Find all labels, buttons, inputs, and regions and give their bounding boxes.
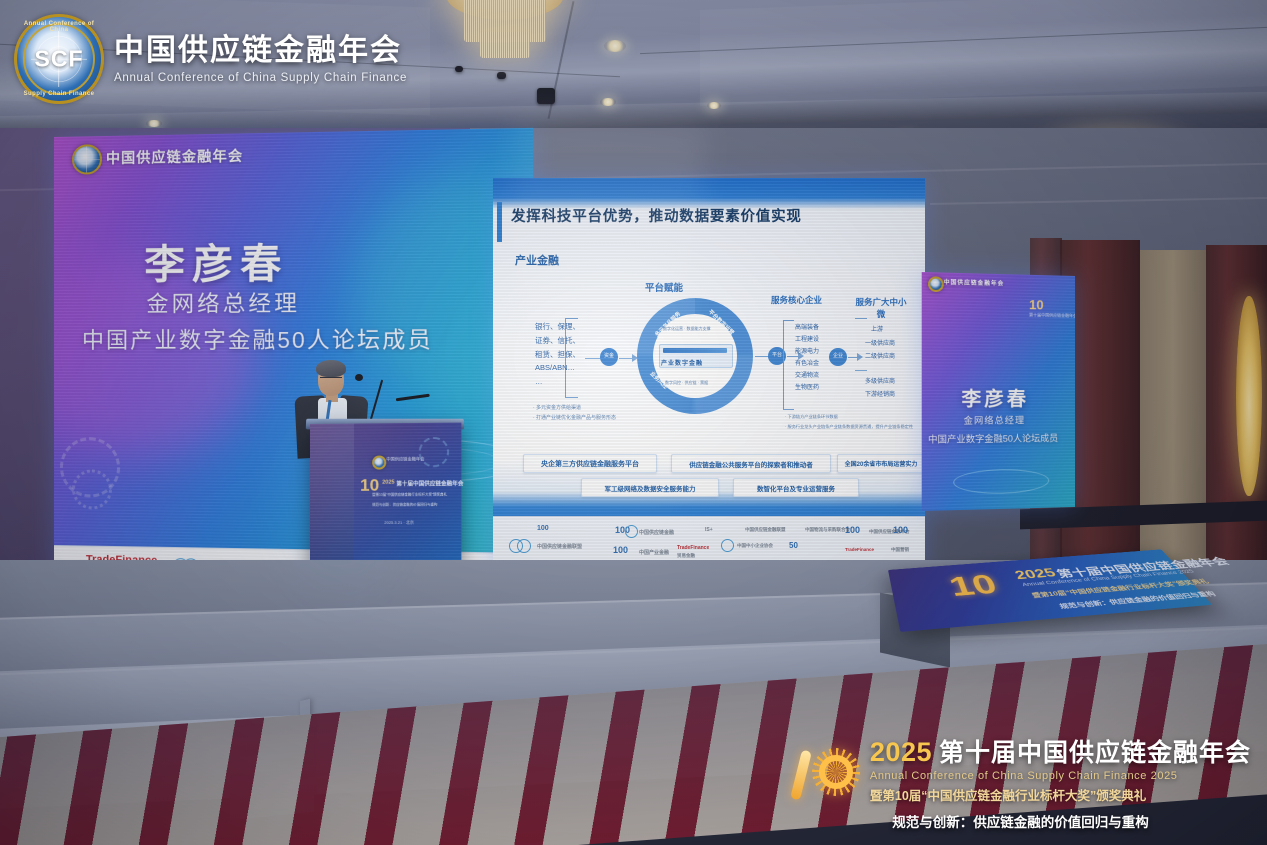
slide-arrow-icon bbox=[857, 353, 863, 361]
slide-micro-note: 数字化运营 · 数据能力支撑 bbox=[663, 326, 711, 332]
downlight-icon bbox=[600, 98, 616, 106]
downlight-icon bbox=[604, 40, 626, 52]
slide-core-item: 工程建设 bbox=[795, 334, 819, 343]
seal-arc-bottom: Supply Chain Finance bbox=[17, 91, 101, 97]
spotlight-fixture bbox=[455, 66, 463, 72]
watermark-bottom-right: 2025 第十届中国供应链金融年会 Annual Conference of C… bbox=[790, 733, 1251, 831]
podium-year: 2025 bbox=[382, 480, 394, 486]
watermark-title-cn: 中国供应链金融年会 bbox=[114, 34, 407, 69]
speaker-glasses-icon bbox=[320, 377, 342, 383]
slide-node-enterprise: 企业 bbox=[829, 348, 847, 366]
slide-left-item: 租赁、担保、 bbox=[535, 349, 580, 360]
seal-scf-text: SCF bbox=[17, 46, 101, 73]
slide-core-item: 交通物流 bbox=[795, 370, 819, 379]
slide-callout-box: 央企第三方供应链金融服务平台 bbox=[523, 454, 657, 473]
slide-connector bbox=[755, 356, 769, 357]
podium-scf-logo-icon bbox=[372, 455, 386, 469]
slide-sme-item: 一级供应商 bbox=[865, 338, 895, 347]
right-screen-anniversary-sub: 第十届中国供应链金融年会 bbox=[1029, 312, 1075, 319]
right-screen-speaker-title-1: 金网络总经理 bbox=[964, 413, 1025, 427]
sponsor-logo: 中国物流与采购联合会 bbox=[805, 527, 850, 533]
watermark-title-en: Annual Conference of China Supply Chain … bbox=[114, 72, 407, 84]
stage-ring-graphic bbox=[953, 468, 1049, 494]
wall-sconce-light bbox=[1236, 296, 1262, 496]
sponsor-logo: 中国供应链金融联盟 bbox=[745, 527, 786, 533]
slide-title-accent-bar bbox=[497, 202, 502, 242]
slide-connector bbox=[855, 318, 867, 319]
slide-connector bbox=[855, 370, 867, 371]
sponsor-logo: IS+ bbox=[705, 527, 713, 533]
sponsor-logo: 100 bbox=[537, 525, 549, 532]
sponsor-logo: 100 bbox=[613, 545, 628, 555]
slide-callout-box: 数智化平台及专业运营服务 bbox=[733, 478, 859, 497]
slide-left-note: · 多元资金方供给渠道 bbox=[533, 404, 581, 411]
led-screen-center-slide: 发挥科技平台优势，推动数据要素价值实现 产业金融 平台赋能 服务核心企业 服务广… bbox=[493, 178, 925, 570]
conference-stage-photo: 中国供应链金融年会 李彦春 金网络总经理 中国产业数字金融50人论坛成员 Tra… bbox=[0, 0, 1267, 845]
scf-seal-logo-icon: Annual Conference of China SCF Supply Ch… bbox=[14, 14, 104, 104]
slide-left-item: 银行、保理、 bbox=[535, 321, 580, 332]
sponsor-mark-icon bbox=[625, 525, 638, 538]
slide-node-funding: 资金 bbox=[600, 348, 618, 366]
watermark-br-subtitle: 暨第10届“中国供应链金融行业标杆大奖”颁奖典礼 bbox=[870, 785, 1251, 804]
slide-donut-center-label: 产业数字金融 bbox=[661, 358, 703, 367]
left-screen-header-title: 中国供应链金融年会 bbox=[106, 146, 243, 169]
led-screen-right: 中国供应链金融年会 10 第十届中国供应链金融年会 李彦春 金网络总经理 中国产… bbox=[922, 272, 1075, 511]
slide-sme-item: 多级供应商 bbox=[865, 376, 895, 385]
watermark-br-title-cn: 第十届中国供应链金融年会 bbox=[939, 733, 1251, 769]
slide-micro-note: 数字风控 · 供应链 · 票据 bbox=[665, 380, 708, 386]
downlight-icon bbox=[707, 102, 721, 109]
left-screen-speaker-title-1: 金网络总经理 bbox=[146, 286, 300, 319]
slide-core-bracket bbox=[783, 320, 794, 410]
scf-logo-icon bbox=[928, 276, 944, 292]
watermark-br-theme: 规范与创新：供应链金融的价值回归与重构 bbox=[790, 811, 1251, 831]
podium-gear-icon bbox=[419, 437, 450, 468]
watermark-top-left: Annual Conference of China SCF Supply Ch… bbox=[14, 14, 407, 104]
slide-connector bbox=[619, 358, 633, 359]
sponsor-logo: TradeFinance bbox=[677, 545, 709, 551]
slide-left-note: · 打通产业链优化金融产品与服务形态 bbox=[533, 414, 616, 421]
slide-core-item: 生物医药 bbox=[795, 382, 819, 391]
slide-inner-bar bbox=[663, 348, 727, 353]
slide-sme-item: 上游 bbox=[871, 324, 883, 333]
right-screen-speaker-name: 李彦春 bbox=[962, 384, 1030, 412]
right-screen-anniversary-mark: 10 bbox=[1029, 297, 1044, 312]
sponsor-mark-icon bbox=[721, 539, 734, 552]
slide-sme-item: 下游经销商 bbox=[865, 389, 895, 398]
slide-column-label-sme: 服务广大中小微 bbox=[853, 296, 909, 320]
sponsor-logo: 中国供应链金融 bbox=[639, 529, 674, 536]
sponsor-logo: 50 bbox=[789, 541, 798, 550]
slide-column-label-core: 服务核心企业 bbox=[771, 294, 822, 306]
anniversary-10-mark-icon bbox=[790, 746, 862, 804]
slide-connector bbox=[585, 358, 601, 359]
spotlight-fixture bbox=[537, 88, 555, 104]
slide-section-label: 产业金融 bbox=[515, 252, 559, 268]
right-screen-speaker-title-2: 中国产业数字金融50人论坛成员 bbox=[928, 431, 1058, 446]
slide-core-item: 能源电力 bbox=[795, 346, 819, 355]
watermark-year: 2025 bbox=[870, 737, 932, 768]
podium-subtitle: 暨第10届“中国供应链金融行业标杆大奖”颁奖典礼 bbox=[372, 491, 447, 496]
spotlight-fixture bbox=[497, 72, 506, 79]
slide-sme-item: 二级供应商 bbox=[865, 351, 895, 360]
slide-left-item: ABS/ABN… bbox=[535, 363, 575, 372]
slide-left-item: … bbox=[535, 377, 543, 386]
sponsor-logo: 中国供应链金融联盟 bbox=[537, 543, 582, 550]
slide-core-item: 高端装备 bbox=[795, 322, 819, 331]
watermark-br-title-en: Annual Conference of China Supply Chain … bbox=[870, 770, 1251, 782]
sponsor-mark-icon bbox=[517, 539, 531, 553]
slide-callout-box: 全国20余省市布局运营实力 bbox=[837, 454, 925, 473]
microphone-head-icon bbox=[355, 374, 363, 381]
seal-arc-top: Annual Conference of China bbox=[17, 21, 101, 33]
floor-panel-anniversary-mark: 10 bbox=[945, 570, 1002, 603]
slide-left-item: 证券、信托、 bbox=[535, 335, 580, 346]
podium-theme: 规范与创新：供应链金融的价值回归与重构 bbox=[372, 502, 437, 507]
presentation-slide: 发挥科技平台优势，推动数据要素价值实现 产业金融 平台赋能 服务核心企业 服务广… bbox=[493, 178, 925, 570]
slide-core-item: 有色冶金 bbox=[795, 358, 819, 367]
slide-core-note: · 服务行业龙头产业链条产业链条数据资源贯通，提升产业链条稳定性 bbox=[785, 424, 913, 430]
slide-callout-box: 供应链金融公共服务平台的探索者和推动者 bbox=[671, 454, 831, 473]
sponsor-logo: 100 bbox=[893, 525, 908, 535]
slide-core-note: · 下游链方产业链条环节数据 bbox=[785, 414, 838, 420]
left-screen-speaker-title-2: 中国产业数字金融50人论坛成员 bbox=[82, 322, 433, 355]
sponsor-logo: 100 bbox=[845, 525, 860, 535]
sponsor-logo: 中国产业金融 bbox=[639, 549, 669, 556]
sponsor-logo: 贸易金融 bbox=[677, 553, 695, 559]
scf-logo-icon bbox=[72, 144, 102, 175]
downlight-icon bbox=[146, 120, 162, 127]
sponsor-logo: TradeFinance bbox=[845, 547, 874, 552]
slide-column-label-platform: 平台赋能 bbox=[645, 280, 683, 294]
left-screen-speaker-name: 李彦春 bbox=[144, 230, 288, 290]
podium-date-line: 2025.3.21 · 北京 bbox=[384, 520, 414, 526]
sponsor-logo: 中国营销 bbox=[891, 547, 909, 553]
podium-title: 第十届中国供应链金融年会 bbox=[396, 479, 463, 487]
slide-title: 发挥科技平台优势，推动数据要素价值实现 bbox=[511, 205, 802, 226]
gear-watermark-icon bbox=[72, 469, 112, 510]
sponsor-logo: 中国中小企业协会 bbox=[737, 543, 773, 549]
slide-callout-box: 军工级网络及数据安全服务能力 bbox=[581, 478, 719, 497]
right-screen-header-title: 中国供应链金融年会 bbox=[944, 278, 1004, 288]
speaker-hair bbox=[316, 360, 346, 377]
